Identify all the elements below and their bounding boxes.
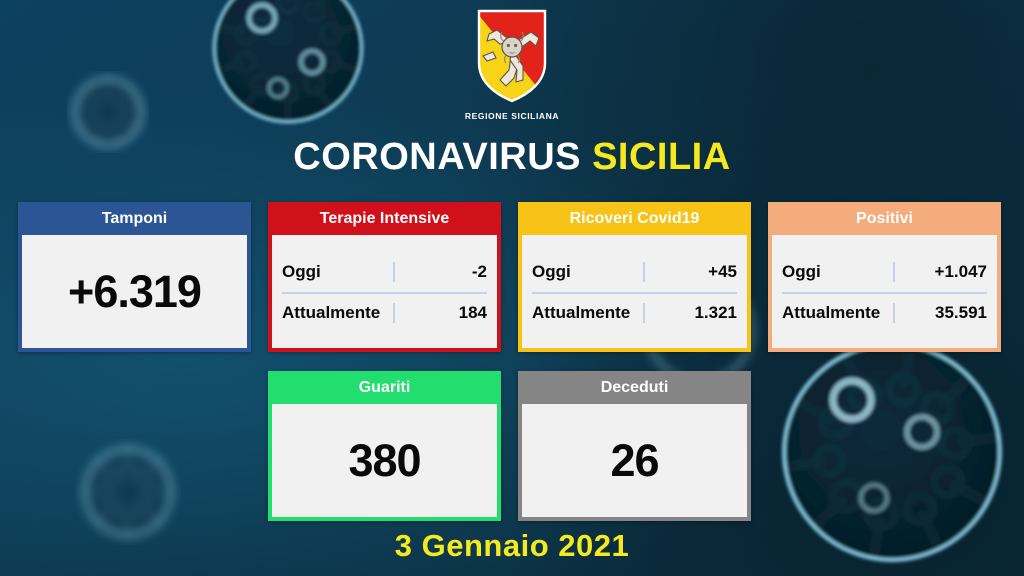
- stat-value-guariti: 380: [348, 438, 420, 483]
- stat-row-positivi-attualmente: Attualmente35.591: [782, 292, 987, 332]
- stat-value-deceduti: 26: [610, 438, 658, 483]
- page-title: CORONAVIRUS SICILIA: [0, 138, 1024, 176]
- stats-row-top: Tamponi+6.319Terapie IntensiveOggi-2Attu…: [18, 202, 1001, 352]
- stats-row-bottom: Guariti380Deceduti26: [268, 371, 751, 521]
- stat-row-label: Attualmente: [532, 303, 645, 323]
- stat-card-guariti: Guariti380: [268, 371, 501, 521]
- report-date: 3 Gennaio 2021: [0, 528, 1024, 564]
- stat-row-positivi-oggi: Oggi+1.047: [782, 252, 987, 292]
- stat-row-value: +45: [645, 262, 737, 282]
- stat-row-label: Attualmente: [282, 303, 395, 323]
- stat-row-value: -2: [395, 262, 487, 282]
- stat-row-value: 1.321: [645, 303, 737, 323]
- stat-row-label: Oggi: [532, 262, 645, 282]
- stat-card-body-terapie-intensive: Oggi-2Attualmente184: [272, 235, 497, 348]
- stat-card-terapie-intensive: Terapie IntensiveOggi-2Attualmente184: [268, 202, 501, 352]
- stat-card-deceduti: Deceduti26: [518, 371, 751, 521]
- stat-card-body-deceduti: 26: [522, 404, 747, 517]
- stat-card-body-guariti: 380: [272, 404, 497, 517]
- stat-card-title-positivi: Positivi: [772, 206, 997, 235]
- stat-row-terapie-intensive-oggi: Oggi-2: [282, 252, 487, 292]
- stat-card-body-ricoveri-covid19: Oggi+45Attualmente1.321: [522, 235, 747, 348]
- stat-row-label: Oggi: [282, 262, 395, 282]
- stat-row-value: 35.591: [895, 303, 987, 323]
- stat-card-ricoveri-covid19: Ricoveri Covid19Oggi+45Attualmente1.321: [518, 202, 751, 352]
- stat-row-value: 184: [395, 303, 487, 323]
- title-sicilia: SICILIA: [592, 136, 731, 178]
- stat-card-tamponi: Tamponi+6.319: [18, 202, 251, 352]
- trinacria-crest-icon: [473, 8, 551, 104]
- stat-card-title-ricoveri-covid19: Ricoveri Covid19: [522, 206, 747, 235]
- stat-card-body-positivi: Oggi+1.047Attualmente35.591: [772, 235, 997, 348]
- stat-row-label: Oggi: [782, 262, 895, 282]
- stat-card-title-terapie-intensive: Terapie Intensive: [272, 206, 497, 235]
- stat-row-ricoveri-covid19-oggi: Oggi+45: [532, 252, 737, 292]
- stat-row-ricoveri-covid19-attualmente: Attualmente1.321: [532, 292, 737, 332]
- page-header: REGIONE SICILIANA: [0, 8, 1024, 121]
- stat-row-value: +1.047: [895, 262, 987, 282]
- stat-row-label: Attualmente: [782, 303, 895, 323]
- stat-card-title-deceduti: Deceduti: [522, 375, 747, 404]
- title-coronavirus: CORONAVIRUS: [293, 136, 581, 178]
- stat-value-tamponi: +6.319: [68, 269, 201, 314]
- stat-row-terapie-intensive-attualmente: Attualmente184: [282, 292, 487, 332]
- stat-card-title-guariti: Guariti: [272, 375, 497, 404]
- stat-card-body-tamponi: +6.319: [22, 235, 247, 348]
- stat-card-positivi: PositiviOggi+1.047Attualmente35.591: [768, 202, 1001, 352]
- logo-caption: REGIONE SICILIANA: [0, 111, 1024, 121]
- stat-card-title-tamponi: Tamponi: [22, 206, 247, 235]
